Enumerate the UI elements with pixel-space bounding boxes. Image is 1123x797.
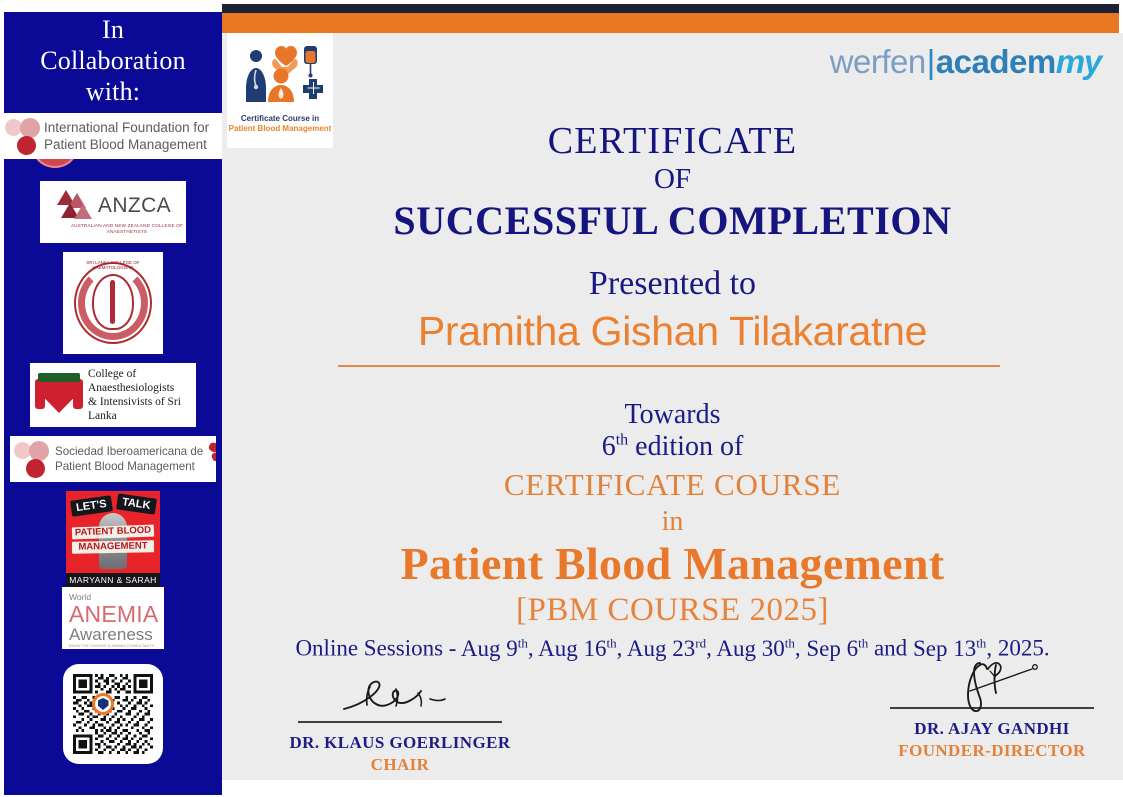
- session-date: Aug 30th: [716, 636, 795, 661]
- edition-line: 6th edition of: [222, 431, 1123, 463]
- lets-talk-pbm-logo: LET'S TALK PATIENT BLOOD MANAGEMENT MARY…: [66, 491, 160, 587]
- signatory-name-founder: DR. AJAY GANDHI: [862, 719, 1122, 739]
- edition-text: edition of: [628, 431, 743, 462]
- recipient-name: Pramitha Gishan Tilakaratne: [222, 308, 1123, 355]
- brand-academ: academ: [936, 43, 1056, 80]
- session-date: Aug 9th: [461, 636, 528, 661]
- qr-code-icon: [73, 674, 153, 754]
- course-title: Patient Blood Management: [222, 537, 1123, 590]
- sociedad-dots-icon: [13, 439, 53, 479]
- sidebar-heading: In Collaboration with:: [4, 14, 222, 107]
- ifpbm-logo: International Foundation for Patient Blo…: [0, 113, 232, 159]
- edition-number: 6: [602, 431, 616, 462]
- signature-block-founder: DR. AJAY GANDHI FOUNDER-DIRECTOR: [862, 655, 1122, 761]
- sri-lanka-college-haematologists-logo: SRI LANKA COLLEGE OF HAEMATOLOGISTS: [63, 252, 163, 354]
- certificate-title-line-3: SUCCESSFUL COMPLETION: [222, 197, 1123, 244]
- anemia-subtext: KNOW THE SCIENCE & ANEMIA CONSULTANTS: [69, 644, 154, 648]
- sociedad-line-2: Patient Blood Management: [55, 459, 203, 474]
- anzca-logo-text: ANZCA: [98, 194, 171, 218]
- signature-block-chair: DR. KLAUS GOERLINGER CHAIR: [270, 669, 530, 775]
- top-orange-bar: [222, 13, 1119, 33]
- presented-to-label: Presented to: [222, 265, 1123, 303]
- anzca-logo: ANZCA AUSTRALIAN AND NEW ZEALAND COLLEGE…: [40, 181, 186, 243]
- qr-center-logo-icon: [92, 693, 114, 715]
- certificate-body: Certificate Course in Patient Blood Mana…: [222, 33, 1123, 780]
- session-date-suffix: th: [607, 635, 617, 650]
- lets-talk-hosts: MARYANN & SARAH: [66, 573, 160, 587]
- anzca-logo-subtext: AUSTRALIAN AND NEW ZEALAND COLLEGE OF AN…: [68, 223, 186, 235]
- lets-ribbon-2: MANAGEMENT: [72, 540, 154, 553]
- in-label: in: [222, 506, 1123, 538]
- haematologists-crest-icon: SRI LANKA COLLEGE OF HAEMATOLOGISTS: [70, 258, 156, 348]
- anzca-triangles-icon: [55, 190, 93, 222]
- coa-line-1: College of Anaesthesiologists: [88, 367, 196, 395]
- recipient-name-underline: [338, 365, 1000, 367]
- ifpbm-line-2: Patient Blood Management: [44, 136, 209, 153]
- course-type-label: CERTIFICATE COURSE: [222, 467, 1123, 503]
- latin-america-map-icon: [205, 441, 216, 477]
- sidebar-heading-line-3: with:: [4, 76, 222, 107]
- session-date: Sep 6th: [806, 636, 868, 661]
- session-date-suffix: rd: [695, 635, 706, 650]
- lets-ribbon-1: PATIENT BLOOD: [72, 525, 154, 540]
- sociedad-line-1: Sociedad Iberoamericana de: [55, 444, 203, 459]
- sociedad-iberoamericana-logo: Sociedad Iberoamericana de Patient Blood…: [10, 436, 216, 482]
- session-date-suffix: th: [976, 635, 986, 650]
- coa-line-2: & Intensivists of Sri Lanka: [88, 395, 196, 423]
- signature-image-goerlinger: [270, 669, 530, 721]
- college-anaesthesiologists-sri-lanka-logo: College of Anaesthesiologists & Intensiv…: [30, 363, 196, 427]
- ifpbm-dots-icon: [4, 116, 44, 156]
- session-date-suffix: th: [518, 635, 528, 650]
- certificate-title-line-1: CERTIFICATE: [222, 119, 1123, 163]
- signatory-name-chair: DR. KLAUS GOERLINGER: [270, 733, 530, 753]
- qr-code[interactable]: [63, 664, 163, 764]
- lets-bubble-2: TALK: [117, 493, 157, 514]
- ifpbm-line-1: International Foundation for: [44, 119, 209, 136]
- signatory-role-founder: FOUNDER-DIRECTOR: [862, 741, 1122, 761]
- anemia-main-label: ANEMIA: [69, 602, 158, 626]
- haematologists-crest-text: SRI LANKA COLLEGE OF HAEMATOLOGISTS: [70, 260, 156, 270]
- pbm-course-illustration-icon: [237, 40, 323, 112]
- anaesthesiologists-crest-icon: [34, 367, 84, 423]
- sidebar-heading-line-2: Collaboration: [4, 45, 222, 76]
- sidebar-heading-line-1: In: [4, 14, 222, 45]
- signatory-role-chair: CHAIR: [270, 755, 530, 775]
- partner-logo-stack: ASPBM ANZCA AUSTRALIAN AND NEW ZEALAND C…: [4, 113, 222, 773]
- session-date-suffix: th: [785, 635, 795, 650]
- top-dark-bar: [222, 4, 1119, 13]
- session-dates-prefix: Online Sessions -: [295, 636, 460, 661]
- brand-my: my: [1056, 43, 1101, 80]
- course-code: [PBM COURSE 2025]: [222, 592, 1123, 629]
- edition-suffix: th: [616, 432, 628, 449]
- towards-label: Towards: [222, 399, 1123, 431]
- certificate-title-line-2: OF: [222, 163, 1123, 196]
- anemia-awareness-label: Awareness: [69, 626, 153, 644]
- session-date: Aug 23rd: [627, 636, 706, 661]
- certificate-page: In Collaboration with: ASPBM: [0, 0, 1123, 797]
- world-anemia-awareness-logo: World ANEMIA Awareness KNOW THE SCIENCE …: [62, 587, 164, 649]
- session-date: Aug 16th: [538, 636, 617, 661]
- brand-werfen: werfen: [830, 43, 926, 80]
- session-date-suffix: th: [858, 635, 868, 650]
- signature-line-chair: [298, 721, 502, 723]
- brand-divider: |: [927, 43, 935, 80]
- signature-image-gandhi: [862, 655, 1122, 707]
- werfen-academy-logo: werfen|academmy: [830, 43, 1101, 81]
